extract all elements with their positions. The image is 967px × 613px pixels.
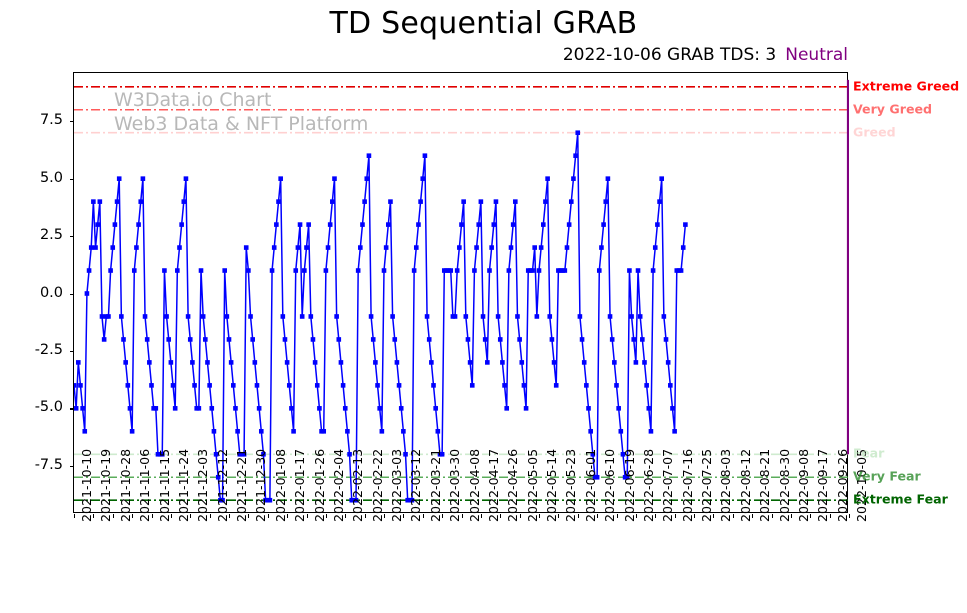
- data-point-marker: [588, 429, 593, 434]
- chart-figure: TD Sequential GRAB 2022-10-06 GRAB TDS: …: [0, 0, 967, 613]
- x-tick-label: 2021-10-28: [118, 449, 133, 522]
- data-point-marker: [113, 222, 118, 227]
- data-point-marker: [233, 406, 238, 411]
- data-point-marker: [317, 406, 322, 411]
- x-tick-mark: [558, 514, 559, 518]
- data-point-marker: [309, 314, 314, 319]
- data-point-marker: [569, 199, 574, 204]
- data-point-marker: [177, 245, 182, 250]
- data-point-marker: [629, 314, 634, 319]
- data-point-marker: [489, 245, 494, 250]
- x-tick-mark: [423, 514, 424, 518]
- data-point-marker: [392, 337, 397, 342]
- data-point-marker: [563, 268, 568, 273]
- data-point-marker: [619, 429, 624, 434]
- data-point-marker: [186, 314, 191, 319]
- x-tick-mark: [365, 514, 366, 518]
- data-point-marker: [539, 245, 544, 250]
- data-point-marker: [207, 383, 212, 388]
- data-point-marker: [552, 360, 557, 365]
- x-tick-label: 2021-12-12: [215, 449, 230, 522]
- data-point-marker: [175, 268, 180, 273]
- x-tick-label: 2022-08-30: [777, 449, 792, 522]
- data-point-marker: [612, 360, 617, 365]
- data-point-marker: [287, 383, 292, 388]
- band-label-extreme-fear: Extreme Fear: [853, 492, 948, 507]
- data-point-marker: [485, 360, 490, 365]
- data-point-marker: [412, 268, 417, 273]
- data-point-marker: [311, 337, 316, 342]
- data-point-marker: [100, 314, 105, 319]
- data-point-marker: [82, 429, 87, 434]
- x-tick-mark: [791, 514, 792, 518]
- data-point-marker: [494, 199, 499, 204]
- data-point-marker: [369, 314, 374, 319]
- x-tick-label: 2022-08-03: [718, 449, 733, 522]
- data-point-marker: [416, 222, 421, 227]
- x-tick-label: 2022-01-08: [273, 449, 288, 522]
- x-tick-mark: [849, 514, 850, 518]
- data-point-marker: [201, 314, 206, 319]
- x-tick-label: 2022-07-16: [680, 449, 695, 522]
- data-point-marker: [171, 383, 176, 388]
- data-point-marker: [184, 176, 189, 181]
- data-point-marker: [401, 429, 406, 434]
- data-point-marker: [227, 337, 232, 342]
- x-tick-label: 2021-12-21: [234, 449, 249, 522]
- data-point-marker: [289, 406, 294, 411]
- data-point-marker: [130, 429, 135, 434]
- data-point-marker: [670, 406, 675, 411]
- data-point-marker: [121, 337, 126, 342]
- data-point-marker: [162, 268, 167, 273]
- data-point-marker: [472, 268, 477, 273]
- x-tick-mark: [287, 514, 288, 518]
- data-point-marker: [169, 360, 174, 365]
- x-tick-label: 2022-03-12: [408, 449, 423, 522]
- data-point-marker: [375, 383, 380, 388]
- data-point-marker: [358, 245, 363, 250]
- data-point-marker: [476, 222, 481, 227]
- data-point-marker: [431, 383, 436, 388]
- data-point-marker: [429, 360, 434, 365]
- data-point-marker: [655, 222, 660, 227]
- x-tick-label: 2022-05-05: [525, 449, 540, 522]
- y-tick-mark: [70, 121, 74, 122]
- data-point-marker: [248, 314, 253, 319]
- data-point-marker: [285, 360, 290, 365]
- data-point-marker: [580, 337, 585, 342]
- x-tick-label: 2022-08-21: [757, 449, 772, 522]
- data-point-marker: [102, 337, 107, 342]
- x-tick-mark: [268, 514, 269, 518]
- data-point-marker: [199, 268, 204, 273]
- data-point-marker: [575, 130, 580, 135]
- data-point-marker: [270, 268, 275, 273]
- x-tick-label: 2022-07-07: [660, 449, 675, 522]
- x-tick-label: 2022-07-25: [699, 449, 714, 522]
- data-point-marker: [74, 383, 76, 388]
- data-point-marker: [455, 268, 460, 273]
- x-tick-label: 2022-03-30: [447, 449, 462, 522]
- x-tick-mark: [248, 514, 249, 518]
- data-point-marker: [608, 314, 613, 319]
- data-point-marker: [246, 268, 251, 273]
- data-point-marker: [537, 268, 542, 273]
- data-point-marker: [479, 199, 484, 204]
- data-point-marker: [466, 337, 471, 342]
- data-point-marker: [567, 222, 572, 227]
- data-point-marker: [578, 314, 583, 319]
- data-point-marker: [420, 176, 425, 181]
- y-tick-mark: [70, 408, 74, 409]
- x-tick-label: 2022-06-19: [622, 449, 637, 522]
- data-point-marker: [255, 383, 260, 388]
- data-point-marker: [631, 337, 636, 342]
- data-point-marker: [154, 406, 159, 411]
- data-point-marker: [313, 360, 318, 365]
- data-point-marker: [487, 268, 492, 273]
- data-point-marker: [386, 222, 391, 227]
- y-tick-mark: [70, 294, 74, 295]
- data-point-marker: [136, 222, 141, 227]
- x-tick-mark: [384, 514, 385, 518]
- data-point-marker: [646, 406, 651, 411]
- data-point-marker: [627, 268, 632, 273]
- data-point-marker: [636, 268, 641, 273]
- x-tick-mark: [442, 514, 443, 518]
- data-point-marker: [362, 199, 367, 204]
- x-tick-mark: [636, 514, 637, 518]
- data-point-marker: [188, 337, 193, 342]
- data-point-marker: [483, 337, 488, 342]
- data-point-marker: [173, 406, 178, 411]
- x-tick-label: 2022-05-14: [544, 449, 559, 522]
- data-point-marker: [683, 222, 688, 227]
- data-point-marker: [291, 429, 296, 434]
- data-point-marker: [89, 245, 94, 250]
- x-tick-label: 2022-06-28: [641, 449, 656, 522]
- x-tick-mark: [481, 514, 482, 518]
- status-badge: Neutral: [785, 45, 848, 65]
- data-point-marker: [433, 406, 438, 411]
- data-point-marker: [522, 383, 527, 388]
- data-point-marker: [276, 199, 281, 204]
- data-point-marker: [272, 245, 277, 250]
- data-point-marker: [339, 360, 344, 365]
- data-point-marker: [212, 429, 217, 434]
- data-point-marker: [119, 314, 124, 319]
- data-point-marker: [423, 153, 428, 158]
- data-point-marker: [95, 222, 100, 227]
- x-tick-mark: [733, 514, 734, 518]
- data-point-marker: [573, 153, 578, 158]
- data-point-marker: [657, 199, 662, 204]
- data-point-marker: [134, 245, 139, 250]
- page-title: TD Sequential GRAB: [0, 6, 967, 41]
- x-tick-label: 2022-09-17: [815, 449, 830, 522]
- x-tick-mark: [132, 514, 133, 518]
- x-tick-mark: [307, 514, 308, 518]
- data-point-marker: [106, 314, 111, 319]
- data-point-marker: [364, 176, 369, 181]
- x-tick-label: 2022-04-08: [467, 449, 482, 522]
- x-tick-label: 2022-06-01: [583, 449, 598, 522]
- x-tick-mark: [713, 514, 714, 518]
- data-point-marker: [205, 360, 210, 365]
- data-point-marker: [509, 245, 514, 250]
- data-point-marker: [491, 222, 496, 227]
- data-point-marker: [274, 222, 279, 227]
- data-point-marker: [334, 314, 339, 319]
- data-point-marker: [377, 406, 382, 411]
- data-point-marker: [367, 153, 372, 158]
- x-tick-label: 2021-11-06: [137, 449, 152, 522]
- x-tick-mark: [93, 514, 94, 518]
- data-point-marker: [110, 245, 115, 250]
- data-point-marker: [259, 429, 264, 434]
- data-point-marker: [138, 199, 143, 204]
- data-point-marker: [517, 337, 522, 342]
- data-point-marker: [93, 245, 98, 250]
- data-point-marker: [181, 199, 186, 204]
- data-point-marker: [519, 360, 524, 365]
- data-point-marker: [662, 314, 667, 319]
- data-point-marker: [302, 268, 307, 273]
- data-point-marker: [268, 498, 273, 503]
- band-label-fear: Fear: [853, 446, 884, 461]
- data-point-marker: [547, 314, 552, 319]
- data-point-marker: [395, 360, 400, 365]
- data-point-marker: [166, 337, 171, 342]
- x-tick-mark: [500, 514, 501, 518]
- data-point-marker: [332, 176, 337, 181]
- x-tick-label: 2022-09-08: [796, 449, 811, 522]
- x-tick-label: 2022-01-17: [292, 449, 307, 522]
- data-point-marker: [382, 268, 387, 273]
- data-point-marker: [554, 383, 559, 388]
- band-label-greed: Greed: [853, 124, 896, 139]
- data-point-marker: [293, 268, 298, 273]
- x-tick-label: 2021-12-30: [253, 449, 268, 522]
- y-tick-mark: [70, 179, 74, 180]
- data-point-marker: [681, 245, 686, 250]
- data-point-marker: [468, 360, 473, 365]
- data-point-marker: [244, 245, 249, 250]
- data-point-marker: [330, 199, 335, 204]
- data-point-marker: [584, 383, 589, 388]
- data-point-marker: [550, 337, 555, 342]
- data-point-marker: [209, 406, 214, 411]
- x-tick-mark: [830, 514, 831, 518]
- data-point-marker: [448, 268, 453, 273]
- x-tick-mark: [403, 514, 404, 518]
- y-tick-label: 5.0: [0, 170, 63, 186]
- x-tick-mark: [152, 514, 153, 518]
- data-point-marker: [601, 222, 606, 227]
- data-point-marker: [356, 268, 361, 273]
- data-point-marker: [603, 199, 608, 204]
- x-tick-label: 2022-03-21: [428, 449, 443, 522]
- data-point-marker: [649, 429, 654, 434]
- data-point-marker: [616, 406, 621, 411]
- data-point-marker: [321, 429, 326, 434]
- x-tick-mark: [520, 514, 521, 518]
- data-point-marker: [653, 245, 658, 250]
- x-tick-mark: [171, 514, 172, 518]
- data-point-marker: [149, 383, 154, 388]
- data-point-marker: [145, 337, 150, 342]
- data-point-marker: [80, 406, 85, 411]
- x-tick-mark: [345, 514, 346, 518]
- data-point-marker: [117, 176, 122, 181]
- data-point-marker: [414, 245, 419, 250]
- data-point-marker: [672, 429, 677, 434]
- data-point-marker: [231, 383, 236, 388]
- data-point-marker: [524, 406, 529, 411]
- data-point-marker: [85, 291, 90, 296]
- y-tick-label: -7.5: [0, 457, 63, 473]
- data-point-marker: [126, 383, 131, 388]
- data-point-marker: [250, 337, 255, 342]
- data-point-marker: [582, 360, 587, 365]
- y-tick-mark: [70, 466, 74, 467]
- x-tick-label: 2022-02-22: [370, 449, 385, 522]
- data-point-marker: [225, 314, 230, 319]
- data-point-marker: [143, 314, 148, 319]
- band-label-extreme-greed: Extreme Greed: [853, 78, 959, 93]
- data-point-marker: [123, 360, 128, 365]
- band-label-very-fear: Very Fear: [853, 469, 921, 484]
- data-point-marker: [141, 176, 146, 181]
- data-point-marker: [326, 245, 331, 250]
- data-point-marker: [496, 314, 501, 319]
- subtitle-date-value: 2022-10-06 GRAB TDS: 3: [563, 45, 776, 65]
- data-point-marker: [315, 383, 320, 388]
- data-point-marker: [164, 314, 169, 319]
- data-point-marker: [78, 383, 83, 388]
- data-point-marker: [530, 268, 535, 273]
- data-point-marker: [545, 176, 550, 181]
- x-tick-mark: [462, 514, 463, 518]
- y-tick-label: 7.5: [0, 112, 63, 128]
- data-point-marker: [192, 383, 197, 388]
- data-point-marker: [634, 360, 639, 365]
- data-point-marker: [511, 222, 516, 227]
- data-point-marker: [328, 222, 333, 227]
- data-point-marker: [281, 314, 286, 319]
- data-point-marker: [147, 360, 152, 365]
- data-point-marker: [461, 199, 466, 204]
- x-tick-label: 2022-05-23: [563, 449, 578, 522]
- data-point-marker: [666, 360, 671, 365]
- x-tick-label: 2022-06-10: [602, 449, 617, 522]
- x-tick-mark: [675, 514, 676, 518]
- data-point-marker: [457, 245, 462, 250]
- x-tick-label: 2021-12-03: [195, 449, 210, 522]
- x-tick-mark: [190, 514, 191, 518]
- data-point-marker: [373, 360, 378, 365]
- data-point-marker: [343, 406, 348, 411]
- data-point-marker: [664, 337, 669, 342]
- data-point-marker: [341, 383, 346, 388]
- data-point-marker: [197, 406, 202, 411]
- data-point-marker: [565, 245, 570, 250]
- y-tick-label: 2.5: [0, 227, 63, 243]
- data-point-marker: [360, 222, 365, 227]
- y-tick-label: 0.0: [0, 285, 63, 301]
- x-tick-label: 2022-08-12: [738, 449, 753, 522]
- x-tick-mark: [772, 514, 773, 518]
- x-tick-mark: [74, 514, 75, 518]
- data-point-marker: [502, 383, 507, 388]
- data-point-marker: [91, 199, 96, 204]
- data-point-marker: [190, 360, 195, 365]
- data-point-marker: [203, 337, 208, 342]
- data-point-marker: [399, 406, 404, 411]
- plot-area: 2021-10-102021-10-192021-10-282021-11-06…: [73, 72, 848, 513]
- data-point-marker: [229, 360, 234, 365]
- data-point-marker: [541, 222, 546, 227]
- data-point-marker: [586, 406, 591, 411]
- data-point-marker: [459, 222, 464, 227]
- data-point-marker: [543, 199, 548, 204]
- data-point-marker: [336, 337, 341, 342]
- data-point-marker: [597, 268, 602, 273]
- data-point-marker: [642, 360, 647, 365]
- data-point-marker: [306, 222, 311, 227]
- data-point-marker: [659, 176, 664, 181]
- data-point-marker: [425, 314, 430, 319]
- data-point-marker: [532, 245, 537, 250]
- band-label-very-greed: Very Greed: [853, 101, 932, 116]
- x-tick-mark: [655, 514, 656, 518]
- x-tick-mark: [617, 514, 618, 518]
- data-point-marker: [179, 222, 184, 227]
- data-point-marker: [606, 176, 611, 181]
- data-point-marker: [638, 314, 643, 319]
- data-point-marker: [388, 199, 393, 204]
- x-tick-label: 2022-02-04: [331, 449, 346, 522]
- data-point-marker: [371, 337, 376, 342]
- data-point-marker: [257, 406, 262, 411]
- x-tick-label: 2022-03-03: [389, 449, 404, 522]
- data-point-marker: [115, 199, 120, 204]
- data-point-marker: [304, 245, 309, 250]
- data-point-marker: [298, 222, 303, 227]
- data-point-marker: [324, 268, 329, 273]
- data-point-marker: [599, 245, 604, 250]
- data-point-marker: [283, 337, 288, 342]
- x-tick-label: 2021-10-19: [98, 449, 113, 522]
- data-point-marker: [397, 383, 402, 388]
- data-point-marker: [500, 360, 505, 365]
- data-point-marker: [679, 268, 684, 273]
- data-point-marker: [384, 245, 389, 250]
- data-point-marker: [235, 429, 240, 434]
- x-tick-mark: [694, 514, 695, 518]
- data-point-marker: [644, 383, 649, 388]
- y-tick-label: -5.0: [0, 399, 63, 415]
- data-point-marker: [300, 314, 305, 319]
- x-tick-mark: [113, 514, 114, 518]
- data-point-marker: [515, 314, 520, 319]
- data-point-marker: [571, 176, 576, 181]
- data-point-marker: [474, 245, 479, 250]
- data-point-marker: [651, 268, 656, 273]
- x-tick-mark: [597, 514, 598, 518]
- x-tick-mark: [210, 514, 211, 518]
